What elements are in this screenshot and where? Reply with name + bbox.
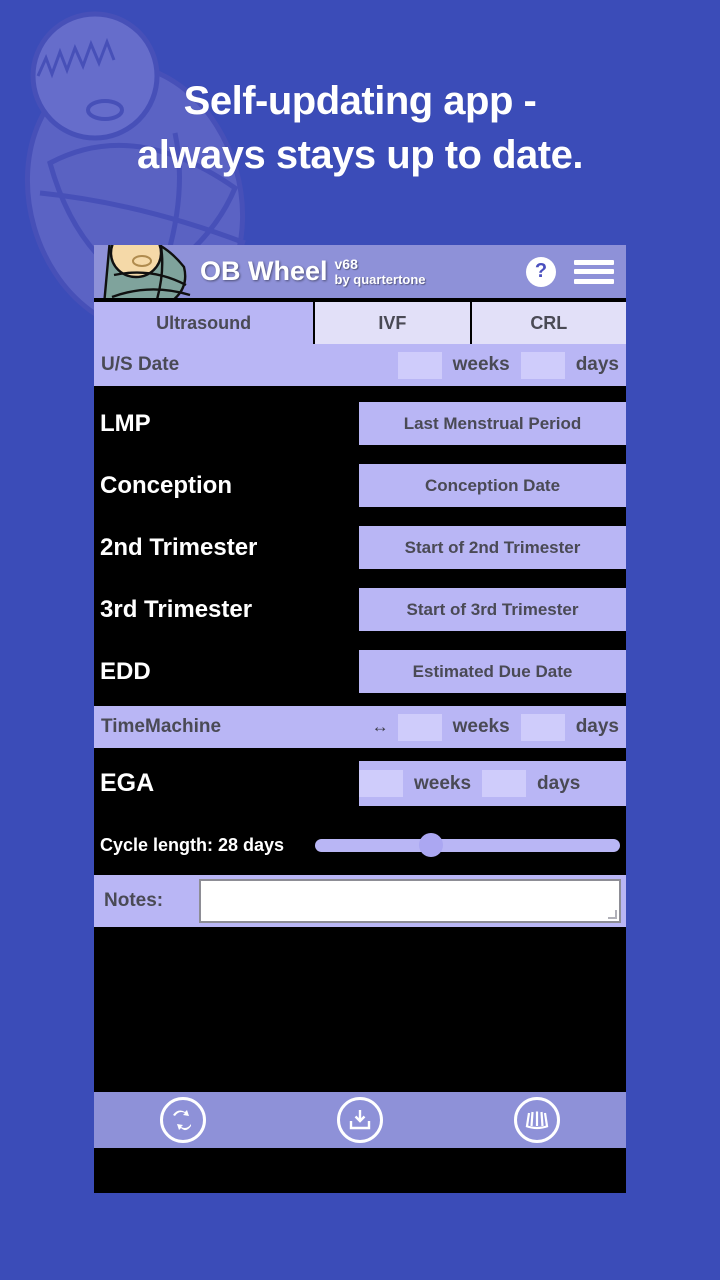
us-date-weeks-unit: weeks bbox=[453, 354, 510, 376]
promo-headline-line-1: Self-updating app - bbox=[0, 74, 720, 128]
wheel-fan-icon[interactable] bbox=[514, 1097, 560, 1143]
edd-date-button[interactable]: Estimated Due Date bbox=[359, 650, 626, 693]
ega-weeks-input[interactable] bbox=[359, 770, 403, 797]
empty-content-area bbox=[94, 927, 626, 1092]
left-right-arrow-icon[interactable]: ↔ bbox=[372, 717, 389, 737]
app-author: by quartertone bbox=[335, 272, 426, 287]
ega-days-unit: days bbox=[537, 773, 580, 795]
lmp-date-button[interactable]: Last Menstrual Period bbox=[359, 402, 626, 445]
row-label-3rd-trimester: 3rd Trimester bbox=[94, 596, 359, 624]
table-row: 2nd Trimester Start of 2nd Trimester bbox=[94, 520, 626, 575]
table-row: EDD Estimated Due Date bbox=[94, 644, 626, 699]
timemachine-weeks-input[interactable] bbox=[398, 714, 442, 741]
table-row: Conception Conception Date bbox=[94, 458, 626, 513]
swaddled-baby-icon bbox=[94, 245, 198, 298]
ega-row: EGA weeks days bbox=[94, 752, 626, 815]
tab-crl[interactable]: CRL bbox=[472, 302, 626, 344]
app-screenshot-frame: OB Wheel v68 by quartertone ? Ultrasound… bbox=[94, 245, 626, 1193]
us-date-days-unit: days bbox=[576, 354, 619, 376]
timemachine-row[interactable]: TimeMachine ↔ weeks days bbox=[94, 706, 626, 748]
us-date-label: U/S Date bbox=[101, 354, 179, 376]
ega-days-input[interactable] bbox=[482, 770, 526, 797]
row-label-2nd-trimester: 2nd Trimester bbox=[94, 534, 359, 562]
row-label-conception: Conception bbox=[94, 472, 359, 500]
row-label-edd: EDD bbox=[94, 658, 359, 686]
hamburger-menu-icon[interactable] bbox=[574, 256, 614, 288]
notes-row: Notes: bbox=[94, 875, 626, 927]
bottom-toolbar bbox=[94, 1092, 626, 1148]
app-version-block: v68 by quartertone bbox=[335, 257, 426, 287]
cycle-length-label: Cycle length: 28 days bbox=[100, 835, 315, 856]
hamburger-bar bbox=[574, 269, 614, 274]
timemachine-days-unit: days bbox=[576, 716, 619, 738]
slider-track bbox=[315, 839, 620, 852]
save-download-icon[interactable] bbox=[337, 1097, 383, 1143]
app-title: OB Wheel bbox=[200, 256, 328, 287]
refresh-swap-icon[interactable] bbox=[160, 1097, 206, 1143]
us-date-row: U/S Date weeks days bbox=[94, 344, 626, 386]
app-version: v68 bbox=[335, 257, 426, 272]
promo-headline-line-2: always stays up to date. bbox=[0, 128, 720, 182]
app-titlebar: OB Wheel v68 by quartertone ? bbox=[94, 245, 626, 298]
date-rows-list: LMP Last Menstrual Period Conception Con… bbox=[94, 390, 626, 699]
tab-ivf[interactable]: IVF bbox=[315, 302, 471, 344]
timemachine-label: TimeMachine bbox=[101, 716, 221, 738]
ega-label: EGA bbox=[94, 769, 359, 798]
second-trimester-button[interactable]: Start of 2nd Trimester bbox=[359, 526, 626, 569]
table-row: LMP Last Menstrual Period bbox=[94, 396, 626, 451]
ega-field: weeks days bbox=[359, 761, 626, 806]
notes-label: Notes: bbox=[99, 890, 199, 912]
hamburger-bar bbox=[574, 279, 614, 284]
tab-ultrasound[interactable]: Ultrasound bbox=[94, 302, 315, 344]
timemachine-weeks-unit: weeks bbox=[453, 716, 510, 738]
slider-thumb[interactable] bbox=[419, 833, 443, 857]
third-trimester-button[interactable]: Start of 3rd Trimester bbox=[359, 588, 626, 631]
table-row: 3rd Trimester Start of 3rd Trimester bbox=[94, 582, 626, 637]
ega-weeks-unit: weeks bbox=[414, 773, 471, 795]
notes-input[interactable] bbox=[199, 879, 621, 923]
conception-date-button[interactable]: Conception Date bbox=[359, 464, 626, 507]
help-icon[interactable]: ? bbox=[526, 257, 556, 287]
us-date-days-input[interactable] bbox=[521, 352, 565, 379]
cycle-length-row: Cycle length: 28 days bbox=[94, 815, 626, 875]
us-date-weeks-input[interactable] bbox=[398, 352, 442, 379]
mode-tabs: Ultrasound IVF CRL bbox=[94, 302, 626, 344]
cycle-length-slider[interactable] bbox=[315, 830, 620, 860]
row-label-lmp: LMP bbox=[94, 410, 359, 438]
hamburger-bar bbox=[574, 260, 614, 265]
timemachine-days-input[interactable] bbox=[521, 714, 565, 741]
promo-headline: Self-updating app - always stays up to d… bbox=[0, 74, 720, 182]
